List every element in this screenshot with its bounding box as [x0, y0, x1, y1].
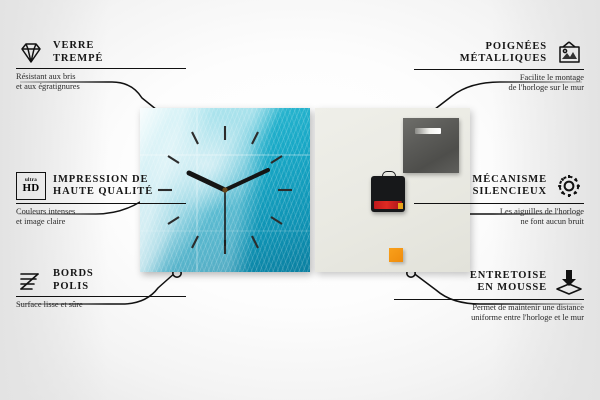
feature-divider — [394, 299, 584, 300]
feature-heading: VERRE TREMPÉ — [16, 40, 186, 65]
hour-hand — [189, 173, 225, 190]
feature-subtitle: Permet de maintenir une distance uniform… — [394, 303, 584, 323]
feature-mecanisme-silencieux: MÉCANISME SILENCIEUX Les aiguilles de l'… — [414, 172, 584, 227]
feature-subtitle: Les aiguilles de l'horloge ne font aucun… — [414, 207, 584, 227]
feature-title-line2: EN MOUSSE — [470, 282, 547, 295]
mechanism-hook — [382, 171, 396, 179]
feature-heading: BORDS POLIS — [16, 268, 186, 293]
feature-title-line1: POIGNÉES — [460, 41, 547, 54]
foam-spacer — [389, 248, 403, 262]
diamond-icon — [16, 41, 46, 65]
feature-sub-line2: et image claire — [16, 217, 186, 227]
feature-title: VERRE TREMPÉ — [53, 40, 103, 65]
feature-divider — [16, 296, 186, 297]
quartz-mechanism — [371, 176, 405, 212]
feature-subtitle: Résistant aux bris et aux égratignures — [16, 72, 186, 92]
minute-hand — [225, 170, 268, 190]
feature-title-line2: TREMPÉ — [53, 53, 103, 66]
feature-bords-polis: BORDS POLIS Surface lisse et sûre — [16, 268, 186, 310]
feature-divider — [16, 68, 186, 69]
feature-sub-line1: Résistant aux bris — [16, 72, 186, 82]
feature-divider — [16, 203, 186, 204]
feature-heading: ultra HD IMPRESSION DE HAUTE QUALITÉ — [16, 172, 186, 200]
feature-subtitle: Facilite le montage de l'horloge sur le … — [414, 73, 584, 93]
feature-sub-line2: ne font aucun bruit — [414, 217, 584, 227]
feature-poignees-metalliques: POIGNÉES MÉTALLIQUES Facilite le montage… — [414, 40, 584, 93]
feature-title: BORDS POLIS — [53, 268, 94, 293]
feature-sub-line2: et aux égratignures — [16, 82, 186, 92]
feature-title-line2: HAUTE QUALITÉ — [53, 186, 153, 199]
foam-spacer-icon — [554, 268, 584, 296]
feature-title-line2: POLIS — [53, 281, 94, 294]
hands-pivot — [222, 187, 227, 192]
feature-entretoise-en-mousse: ENTRETOISE EN MOUSSE Permet de maintenir… — [394, 268, 584, 323]
feature-verre-trempe: VERRE TREMPÉ Résistant aux bris et aux é… — [16, 40, 186, 92]
metal-hanger-plate — [403, 118, 459, 173]
feature-title: IMPRESSION DE HAUTE QUALITÉ — [53, 174, 153, 199]
hanger-slot — [415, 128, 441, 134]
feature-title: ENTRETOISE EN MOUSSE — [470, 270, 547, 295]
feature-heading: POIGNÉES MÉTALLIQUES — [414, 40, 584, 66]
polished-edge-icon — [16, 269, 46, 293]
feature-subtitle: Couleurs intenses et image claire — [16, 207, 186, 227]
feature-heading: MÉCANISME SILENCIEUX — [414, 172, 584, 200]
feature-sub-line1: Facilite le montage — [414, 73, 584, 83]
feature-sub-line2: de l'horloge sur le mur — [414, 83, 584, 93]
feature-title-line1: ENTRETOISE — [470, 270, 547, 283]
feature-title-line1: MÉCANISME — [472, 174, 547, 187]
feature-heading: ENTRETOISE EN MOUSSE — [394, 268, 584, 296]
feature-sub-line1: Les aiguilles de l'horloge — [414, 207, 584, 217]
feature-title-line2: MÉTALLIQUES — [460, 53, 547, 66]
feature-sub-line1: Surface lisse et sûre — [16, 300, 186, 310]
feature-title-line1: IMPRESSION DE — [53, 174, 153, 187]
feature-subtitle: Surface lisse et sûre — [16, 300, 186, 310]
feature-divider — [414, 203, 584, 204]
ultra-hd-icon: ultra HD — [16, 172, 46, 200]
feature-title-line1: BORDS — [53, 268, 94, 281]
feature-title-line2: SILENCIEUX — [472, 186, 547, 199]
feature-sub-line1: Permet de maintenir une distance — [394, 303, 584, 313]
feature-sub-line1: Couleurs intenses — [16, 207, 186, 217]
infographic-canvas: VERRE TREMPÉ Résistant aux bris et aux é… — [0, 0, 600, 400]
wall-hanging-icon — [554, 40, 584, 66]
gear-icon — [554, 172, 584, 200]
battery-plus-terminal — [398, 203, 403, 209]
ultra-hd-icon-bottom-label: HD — [22, 183, 39, 194]
feature-sub-line2: uniforme entre l'horloge et le mur — [394, 313, 584, 323]
feature-divider — [414, 69, 584, 70]
feature-title-line1: VERRE — [53, 40, 103, 53]
feature-impression-haute-qualite: ultra HD IMPRESSION DE HAUTE QUALITÉ Cou… — [16, 172, 186, 227]
feature-title: MÉCANISME SILENCIEUX — [472, 174, 547, 199]
feature-title: POIGNÉES MÉTALLIQUES — [460, 41, 547, 66]
